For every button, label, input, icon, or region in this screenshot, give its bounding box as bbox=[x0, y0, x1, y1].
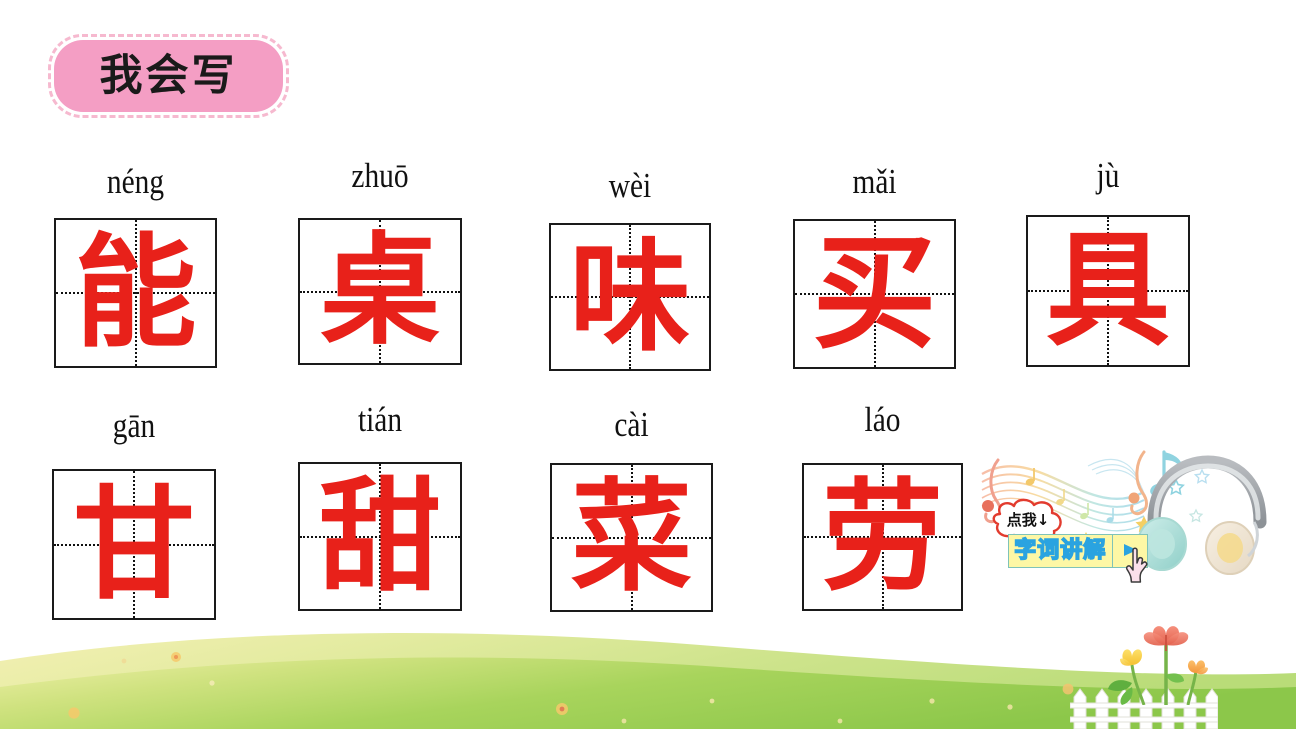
character-cell-cai: cài 菜 bbox=[550, 404, 713, 616]
hanzi-glyph: 具 bbox=[1028, 217, 1188, 365]
slide-canvas: 我会写 néng 能 zhuō 桌 wèi 味 mǎi 买 bbox=[0, 0, 1296, 729]
character-cell-tian: tián 甜 bbox=[298, 400, 462, 612]
word-explanation-widget[interactable]: 点我↓ 字词讲解 bbox=[968, 436, 1268, 602]
tianzi-grid: 买 bbox=[793, 219, 956, 369]
tianzi-grid: 劳 bbox=[802, 463, 963, 611]
tianzi-grid: 具 bbox=[1026, 215, 1190, 367]
character-cell-wei: wèi 味 bbox=[549, 164, 711, 374]
pinyin-label: láo bbox=[815, 402, 950, 437]
character-cell-ju: jù 具 bbox=[1026, 156, 1190, 368]
flower-orange bbox=[1188, 660, 1208, 674]
badge-fill: 我会写 bbox=[54, 40, 283, 112]
tianzi-grid: 味 bbox=[549, 223, 711, 371]
hanzi-glyph: 能 bbox=[56, 220, 215, 366]
tianzi-grid: 菜 bbox=[550, 463, 713, 612]
character-cell-neng: néng 能 bbox=[54, 160, 217, 370]
section-badge: 我会写 bbox=[48, 34, 289, 118]
tianzi-grid: 甘 bbox=[52, 469, 216, 620]
click-me-bubble: 点我↓ bbox=[986, 498, 1070, 542]
flower-yellow bbox=[1120, 649, 1142, 665]
hanzi-glyph: 味 bbox=[551, 225, 709, 369]
badge-label: 我会写 bbox=[100, 55, 238, 98]
hanzi-glyph: 甜 bbox=[300, 464, 460, 609]
pinyin-label: cài bbox=[563, 407, 700, 442]
tianzi-grid: 桌 bbox=[298, 218, 462, 365]
pinyin-label: tián bbox=[311, 402, 449, 437]
hanzi-glyph: 桌 bbox=[300, 220, 460, 363]
word-explanation-label: 字词讲解 bbox=[1009, 540, 1112, 562]
hanzi-glyph: 甘 bbox=[54, 471, 214, 618]
hand-cursor-icon bbox=[1124, 546, 1154, 584]
pinyin-label: mǎi bbox=[806, 164, 943, 199]
pinyin-label: gān bbox=[65, 408, 203, 443]
tianzi-grid: 能 bbox=[54, 218, 217, 368]
character-cell-gan: gān 甘 bbox=[52, 404, 216, 620]
pinyin-label: wèi bbox=[562, 168, 698, 203]
hanzi-glyph: 劳 bbox=[804, 465, 961, 609]
character-cell-lao: láo 劳 bbox=[802, 400, 963, 612]
flowers-icon bbox=[1096, 623, 1226, 705]
character-cell-zhuo: zhuō 桌 bbox=[298, 156, 462, 366]
pinyin-label: zhuō bbox=[311, 158, 449, 193]
click-me-label: 点我↓ bbox=[986, 498, 1070, 542]
tianzi-grid: 甜 bbox=[298, 462, 462, 611]
hanzi-glyph: 买 bbox=[795, 221, 954, 367]
pinyin-label: néng bbox=[67, 164, 204, 199]
pinyin-label: jù bbox=[1039, 158, 1177, 193]
hanzi-glyph: 菜 bbox=[552, 465, 711, 610]
flower-red bbox=[1144, 626, 1188, 651]
character-cell-mai: mǎi 买 bbox=[793, 161, 956, 371]
